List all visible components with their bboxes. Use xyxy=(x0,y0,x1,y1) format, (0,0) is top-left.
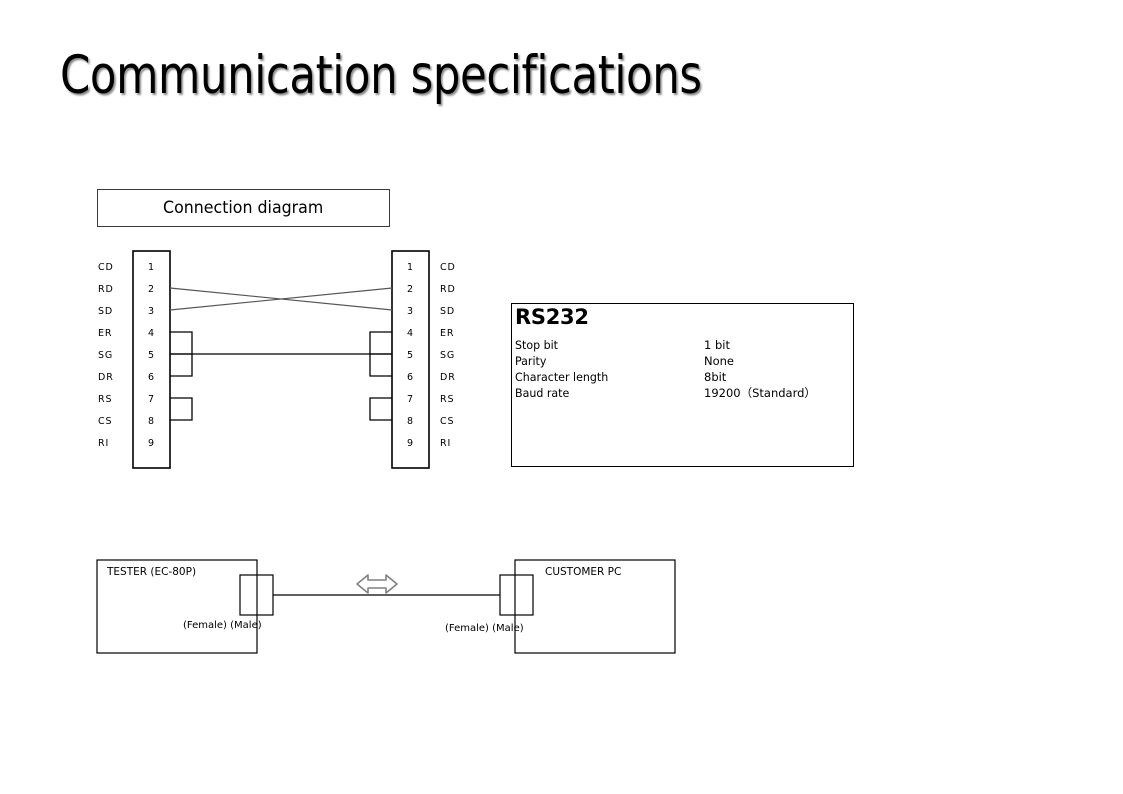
left-pin-number: 9 xyxy=(148,438,154,449)
left-signal-label: RS xyxy=(98,394,112,405)
rs232-spec-row: ParityNone xyxy=(515,353,856,369)
right-pin-number: 4 xyxy=(407,328,413,339)
rs232-spec-list: Stop bit1 bit ParityNone Character lengt… xyxy=(515,337,856,401)
left-signal-label: RI xyxy=(98,438,109,449)
left-signal-label: ER xyxy=(98,328,112,339)
left-signal-label: CD xyxy=(98,262,114,273)
left-pin-number: 6 xyxy=(148,372,154,383)
right-signal-label: ER xyxy=(440,328,454,339)
left-signal-label: RD xyxy=(98,284,114,295)
rs232-spec-row: Stop bit1 bit xyxy=(515,337,856,353)
left-pin-numbers: 1 2 3 4 5 6 7 8 9 xyxy=(148,262,154,449)
left-signal-labels: CD RD SD ER SG DR RS CS RI xyxy=(98,262,114,449)
right-signal-label: DR xyxy=(440,372,456,383)
right-pin-numbers: 1 2 3 4 5 6 7 8 9 xyxy=(407,262,413,449)
right-loopback-wires xyxy=(370,332,392,420)
left-signal-label: CS xyxy=(98,416,112,427)
right-signal-label: CD xyxy=(440,262,456,273)
rs232-title: RS232 xyxy=(515,305,589,329)
rs232-spec-box: RS232 Stop bit1 bit ParityNone Character… xyxy=(511,303,854,467)
right-pin-number: 1 xyxy=(407,262,413,273)
crossed-signal-wires xyxy=(170,288,392,310)
tester-label: TESTER (EC-80P) xyxy=(106,566,196,578)
left-pin-number: 1 xyxy=(148,262,154,273)
customer-pc-connector xyxy=(500,575,533,615)
left-signal-label: DR xyxy=(98,372,114,383)
tester-gender-label: (Female) (Male) xyxy=(183,620,262,631)
right-pin-number: 7 xyxy=(407,394,413,405)
rs232-spec-label: Character length xyxy=(515,369,696,385)
right-pin-number: 6 xyxy=(407,372,413,383)
left-signal-label: SG xyxy=(98,350,113,361)
left-pin-number: 8 xyxy=(148,416,154,427)
left-signal-label: SD xyxy=(98,306,113,317)
rs232-spec-value: 19200（Standard） xyxy=(704,385,816,401)
connection-diagram-caption: Connection diagram xyxy=(163,198,323,218)
customer-pc-gender-label: (Female) (Male) xyxy=(445,623,524,634)
tester-connector xyxy=(240,575,273,615)
rs232-spec-label: Stop bit xyxy=(515,337,696,353)
left-pin-number: 4 xyxy=(148,328,154,339)
rs232-spec-row: Baud rate19200（Standard） xyxy=(515,385,856,401)
pin-wiring-diagram: CD RD SD ER SG DR RS CS RI 1 2 3 4 5 6 7… xyxy=(90,240,470,480)
right-signal-labels: CD RD SD ER SG DR RS CS RI xyxy=(440,262,456,449)
right-pin-number: 9 xyxy=(407,438,413,449)
right-pin-number: 3 xyxy=(407,306,413,317)
right-pin-number: 2 xyxy=(407,284,413,295)
page-title: Communication specifications xyxy=(60,47,702,105)
rs232-spec-value: None xyxy=(704,353,734,369)
left-pin-number: 5 xyxy=(148,350,154,361)
customer-pc-label: CUSTOMER PC xyxy=(545,566,621,578)
rs232-spec-label: Parity xyxy=(515,353,696,369)
left-pin-number: 3 xyxy=(148,306,154,317)
right-signal-label: RI xyxy=(440,438,451,449)
right-signal-label: SD xyxy=(440,306,455,317)
connection-diagram-caption-box: Connection diagram xyxy=(97,189,390,227)
rs232-spec-value: 1 bit xyxy=(704,337,730,353)
left-loopback-wires xyxy=(170,332,192,420)
right-signal-label: CS xyxy=(440,416,454,427)
bidirectional-arrow-icon xyxy=(357,575,397,593)
left-pin-number: 7 xyxy=(148,394,154,405)
right-pin-number: 8 xyxy=(407,416,413,427)
left-pin-number: 2 xyxy=(148,284,154,295)
physical-connection-diagram: TESTER (EC-80P) CUSTOMER PC (Female) (Ma… xyxy=(90,548,690,668)
right-signal-label: RS xyxy=(440,394,454,405)
right-pin-number: 5 xyxy=(407,350,413,361)
rs232-spec-row: Character length8bit xyxy=(515,369,856,385)
rs232-spec-value: 8bit xyxy=(704,369,726,385)
right-signal-label: SG xyxy=(440,350,455,361)
rs232-spec-label: Baud rate xyxy=(515,385,696,401)
right-signal-label: RD xyxy=(440,284,456,295)
